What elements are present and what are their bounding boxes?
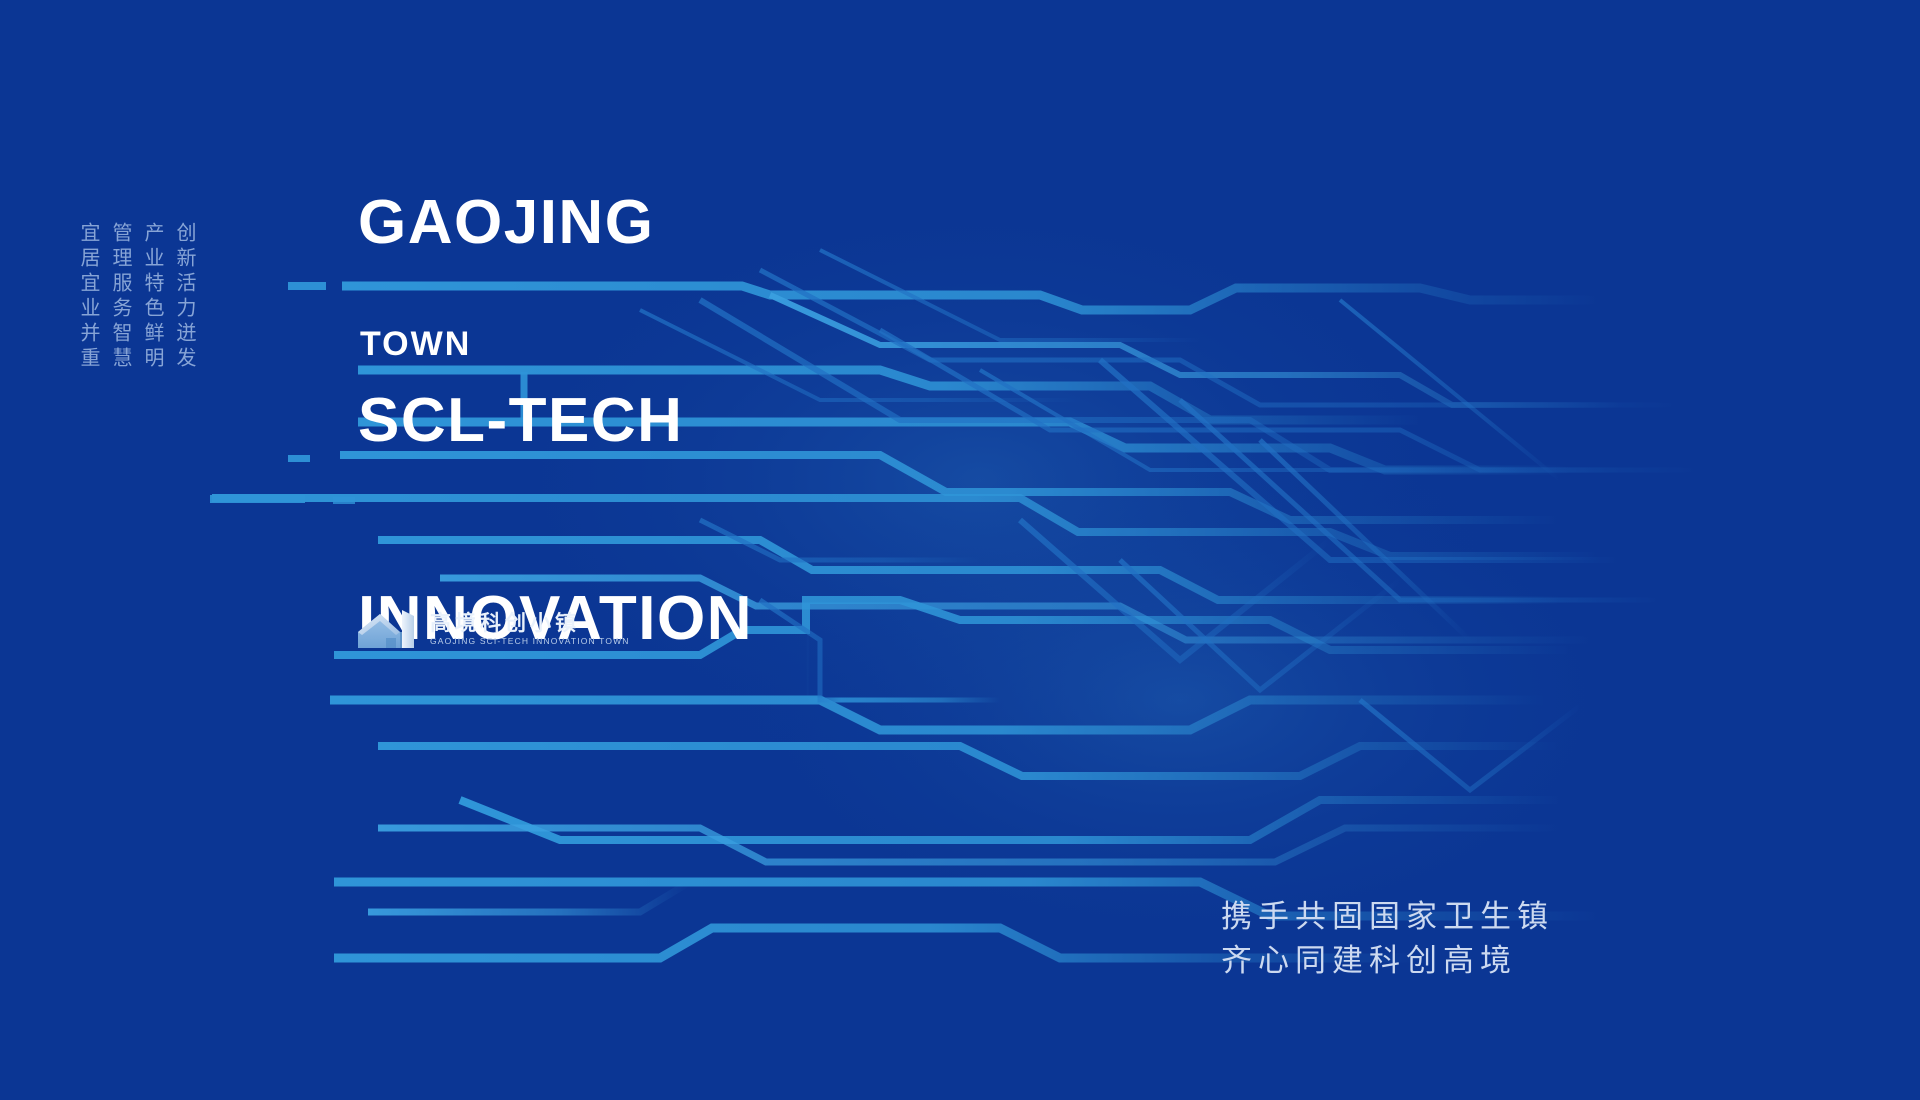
poster-canvas: 创新活力迸发 产业特色鲜明 管理服务智慧 宜居宜业并重 GAOJING SCL-… (0, 0, 1920, 1100)
headline-line-1: GAOJING (358, 190, 753, 256)
vertical-slogan-column-4: 宜居宜业并重 (78, 222, 100, 372)
bottom-slogan-line-1: 携手共固国家卫生镇 (1221, 895, 1554, 939)
vertical-slogan-column-1: 创新活力迸发 (174, 222, 196, 372)
vertical-slogan-column-2: 产业特色鲜明 (142, 222, 164, 372)
page-title: GAOJING SCL-TECH INNOVATION (358, 58, 753, 784)
headline-town-word: TOWN (360, 325, 471, 364)
logo-text-block: 高境科创小镇 GAOJING SCI-TECH INNOVATION TOWN (430, 612, 630, 646)
bottom-slogan: 携手共固国家卫生镇 齐心同建科创高境 (1221, 895, 1554, 983)
logo-english-name: GAOJING SCI-TECH INNOVATION TOWN (430, 636, 630, 646)
brand-logo: 高境科创小镇 GAOJING SCI-TECH INNOVATION TOWN (356, 604, 630, 654)
logo-chinese-name: 高境科创小镇 (430, 612, 630, 634)
circuit-trace-artwork (0, 0, 1920, 1100)
vertical-slogan-group: 创新活力迸发 产业特色鲜明 管理服务智慧 宜居宜业并重 (78, 222, 196, 372)
headline-line-2: SCL-TECH (358, 388, 753, 454)
vertical-slogan-column-3: 管理服务智慧 (110, 222, 132, 372)
house-building-icon (356, 604, 420, 654)
bottom-slogan-line-2: 齐心同建科创高境 (1221, 939, 1554, 983)
